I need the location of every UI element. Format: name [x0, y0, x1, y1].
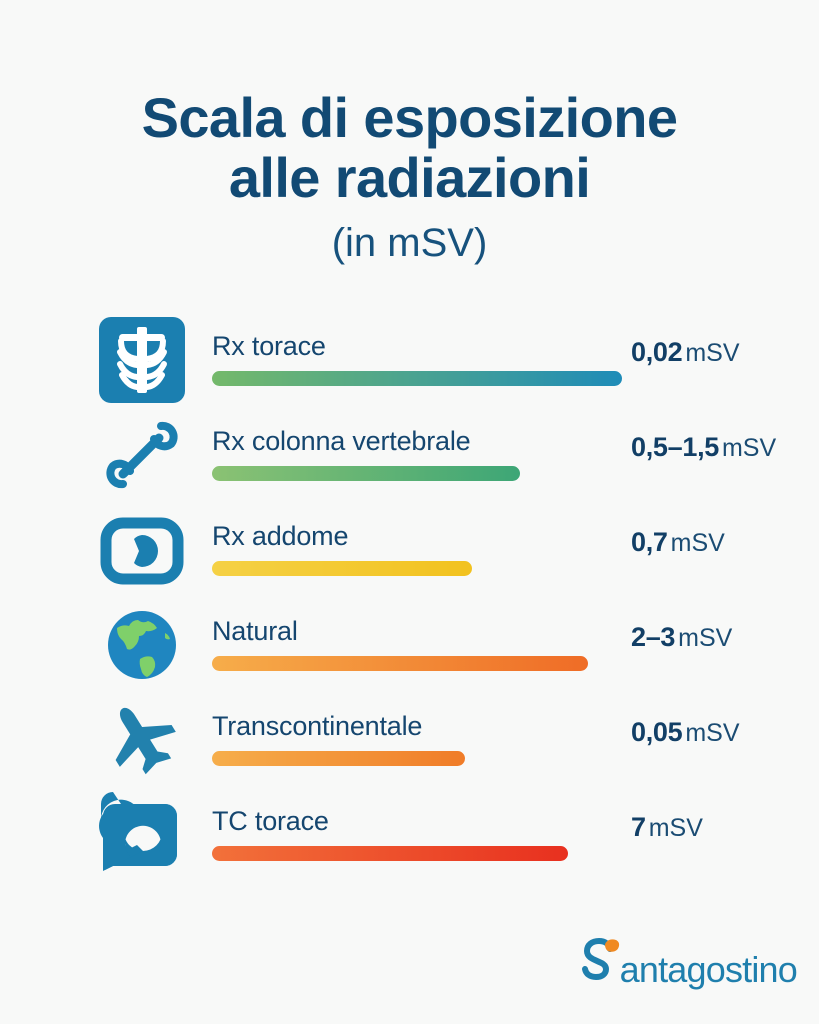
bone-icon [96, 409, 188, 501]
value-number: 0,7 [631, 527, 668, 557]
list-item-label: Rx addome [212, 521, 348, 552]
value-unit: mSV [678, 624, 732, 652]
bar-track [212, 466, 520, 481]
ribcage-xray-icon [96, 314, 188, 406]
list-item: Rx addome 0,7mSV [0, 500, 819, 595]
list-item: Rx torace 0,02mSV [0, 310, 819, 405]
bar-track [212, 561, 472, 576]
value-label: 2–3mSV [631, 622, 732, 653]
bar-fill [212, 466, 520, 481]
value-label: 0,5–1,5mSV [631, 432, 776, 463]
bar-fill [212, 371, 622, 386]
ct-scanner-icon [96, 789, 188, 881]
abdomen-icon [96, 504, 188, 596]
page-subtitle: (in mSV) [0, 221, 819, 265]
value-label: 0,02mSV [631, 337, 740, 368]
page-title: Scala di esposizione alle radiazioni [0, 88, 819, 209]
value-number: 0,5–1,5 [631, 432, 719, 462]
value-number: 0,05 [631, 717, 682, 747]
list-item: Natural 2–3mSV [0, 595, 819, 690]
header: Scala di esposizione alle radiazioni (in… [0, 88, 819, 265]
value-number: 0,02 [631, 337, 682, 367]
santagostino-logo: antagostino [579, 942, 797, 988]
logo-s-mark-icon [579, 937, 621, 988]
globe-icon [96, 599, 188, 691]
bar-track [212, 656, 588, 671]
radiation-scale-list: Rx torace 0,02mSV Rx colonna vertebrale … [0, 310, 819, 880]
value-unit: mSV [649, 814, 703, 842]
bar-fill [212, 751, 465, 766]
bar-track [212, 846, 568, 861]
list-item-label: Transcontinentale [212, 711, 422, 742]
list-item-label: TC torace [212, 806, 329, 837]
bar-fill [212, 846, 568, 861]
list-item: Transcontinentale 0,05mSV [0, 690, 819, 785]
value-unit: mSV [722, 434, 776, 462]
value-number: 2–3 [631, 622, 675, 652]
bar-track [212, 371, 622, 386]
value-number: 7 [631, 812, 646, 842]
airplane-icon [96, 694, 188, 786]
list-item-label: Natural [212, 616, 298, 647]
bar-track [212, 751, 465, 766]
list-item-label: Rx colonna vertebrale [212, 426, 470, 457]
logo-wordmark: antagostino [620, 952, 797, 988]
list-item: TC torace 7mSV [0, 785, 819, 880]
value-label: 0,05mSV [631, 717, 740, 748]
value-unit: mSV [671, 529, 725, 557]
value-unit: mSV [685, 719, 739, 747]
value-label: 0,7mSV [631, 527, 725, 558]
bar-fill [212, 561, 472, 576]
value-unit: mSV [685, 339, 739, 367]
list-item: Rx colonna vertebrale 0,5–1,5mSV [0, 405, 819, 500]
bar-fill [212, 656, 588, 671]
value-label: 7mSV [631, 812, 703, 843]
list-item-label: Rx torace [212, 331, 326, 362]
